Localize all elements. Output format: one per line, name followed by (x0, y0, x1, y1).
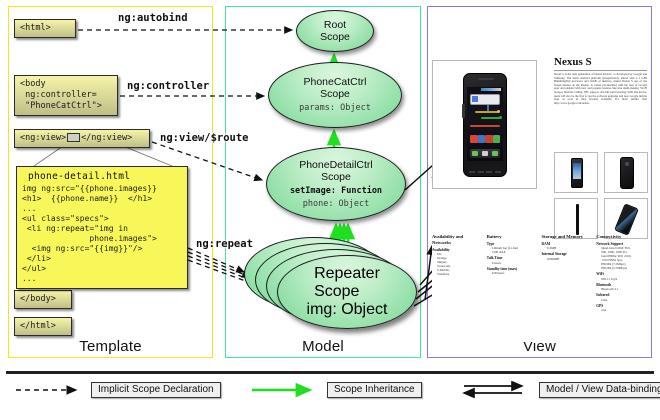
phone-screen (467, 87, 503, 161)
phone-edge-icon (576, 204, 579, 235)
spec-value-1-1-0: 6 hours (492, 261, 538, 265)
legend-green-arrow-icon (250, 381, 322, 398)
label-ng-repeat: ng:repeat (196, 238, 253, 250)
spec-column-battery: Battery Type Lithium Ion (Li-Ion) 1500 m… (487, 234, 538, 312)
scope-phonecatctrl: PhoneCatCtrlScope params: Object (268, 62, 402, 128)
callout-title: phone-detail.html (28, 171, 183, 182)
phone-hero-image-frame (432, 60, 537, 189)
callout-code: img ng:src="{{phone.images}} <h1> {{phon… (22, 184, 183, 284)
thumbnail-phone-back[interactable] (604, 152, 648, 193)
legend-double-arrow-icon (462, 381, 534, 398)
spec-value-2-0-0: 512MB (547, 246, 593, 250)
panel-model-label: Model (226, 338, 420, 355)
phone-angle-icon (614, 203, 639, 236)
code-box-html-open: <html> (14, 19, 76, 38)
scope-repeater-prop-img: img: Object (307, 301, 388, 319)
phone-wallpaper-line-2 (481, 117, 501, 119)
scope-detail-prop-setimage: setImage: Function (290, 186, 382, 197)
spec-value-2-1-0: 16384MB (547, 257, 593, 261)
scope-repeater: RepeaterScope img: Object (277, 255, 417, 329)
phone-app-icon-1 (470, 135, 478, 143)
label-ng-autobind: ng:autobind (118, 12, 188, 24)
label-ng-controller: ng:controller (127, 80, 209, 92)
scope-repeater-name-line1: Repeater (314, 265, 380, 282)
scope-phonedetailctrl: PhoneDetailCtrlScope setImage: Function … (266, 147, 406, 221)
spec-column-availability: Availability and Networks Availability M… (432, 234, 483, 312)
spec-column-storage: Storage and Memory RAM 512MB Internal St… (542, 234, 593, 312)
phone-search-widget (470, 94, 500, 105)
code-box-html-close: </html> (14, 317, 72, 336)
phone-button-back (469, 171, 475, 173)
phone-statusbar (481, 88, 501, 91)
phone-hero-image (463, 73, 507, 177)
product-description: Nexus S is the next generation of Nexus … (554, 73, 647, 105)
legend-item-model-view-data-binding: Model / View Data-binding (462, 381, 660, 398)
spec-value-3-3-0: false (601, 298, 647, 302)
product-title-rule (554, 70, 647, 71)
thumbnail-phone-edge[interactable] (554, 198, 598, 239)
scope-repeater-name-line2: Scope (314, 283, 359, 300)
legend-label-implicit-scope-declaration: Implicit Scope Declaration (91, 382, 221, 398)
phone-app-icons (470, 135, 500, 147)
spec-value-3-0-5: HSUPA (5.76Mbps) (601, 266, 647, 270)
view-rendered-page: Nexus S Nexus S is the next generation o… (432, 12, 647, 342)
spec-value-1-2-0: 428 hours (492, 271, 538, 275)
legend-label-scope-inheritance: Scope Inheritance (327, 382, 422, 398)
spec-value-3-1-0: 802.11 b/g/n (601, 277, 647, 281)
spec-table: Availability and Networks Availability M… (432, 234, 647, 312)
thumbnail-phone-front[interactable] (554, 152, 598, 193)
scope-detail-name-line1: PhoneDetailCtrl (299, 159, 373, 171)
spec-heading-1: Battery (487, 234, 538, 240)
spec-value-3-2-0: Bluetooth 2.1 (601, 287, 647, 291)
scope-cat-name-line1: PhoneCatCtrl (303, 76, 366, 88)
code-box-ngview: <ng:view></ng:view> (14, 129, 150, 148)
spec-heading-0: Availability and Networks (432, 234, 483, 246)
scope-detail-prop-phone: phone: Object (303, 199, 370, 210)
product-title: Nexus S (554, 56, 592, 68)
ngview-close-tag: </ng:view> (81, 133, 132, 143)
phone-dock-icon-phone (472, 151, 478, 156)
legend-dashed-arrow-icon (14, 381, 86, 398)
code-box-body-open: <body ng:controller= "PhoneCatCtrl"> (14, 75, 118, 116)
legend-divider (6, 371, 654, 374)
scope-root-name-line2: Scope (320, 31, 350, 43)
phone-button-menu (478, 171, 484, 173)
phone-wallpaper-line-3 (470, 125, 500, 127)
label-ng-view-route: ng:view/$route (160, 132, 249, 144)
spec-heading-3: Connectivity (596, 234, 647, 240)
template-callout-phone-detail: phone-detail.html img ng:src="{{phone.im… (16, 166, 188, 289)
spec-value-1-0-1: 1500 mAh (492, 250, 538, 254)
phone-front-icon (571, 158, 583, 188)
spec-value-3-4-0: true (601, 308, 647, 312)
panel-template-label: Template (9, 338, 212, 355)
phone-dock-icon-apps (482, 151, 488, 156)
scope-root-name-line1: Root (324, 19, 346, 31)
legend-item-implicit-scope-declaration: Implicit Scope Declaration (14, 381, 221, 398)
phone-volume-button (462, 104, 465, 118)
legend-item-scope-inheritance: Scope Inheritance (250, 381, 422, 398)
ngview-open-tag: <ng:view> (20, 133, 66, 143)
phone-wallpaper-dot-2 (499, 116, 502, 119)
phone-wallpaper-dot-1 (497, 110, 500, 113)
phone-app-icon-2 (478, 135, 486, 143)
phone-app-icon-4 (493, 135, 501, 143)
phone-wallpaper-line-1 (475, 111, 499, 113)
scope-root: RootScope (296, 10, 374, 52)
spec-heading-2: Storage and Memory (542, 234, 593, 240)
spec-value-0-0-5: Vodafone (437, 272, 483, 276)
phone-button-home (486, 171, 492, 173)
phone-hardware-buttons (468, 167, 502, 176)
code-box-body-close: </body> (14, 290, 72, 309)
phone-dock-tray (470, 149, 500, 158)
thumbnail-phone-angle[interactable] (604, 198, 648, 239)
phone-dock-icon-browser (492, 151, 498, 156)
diagram-canvas: Template Model View (0, 0, 660, 420)
phone-speaker-icon (478, 78, 494, 80)
phone-app-icon-3 (485, 135, 493, 143)
ngview-slot-icon (67, 133, 80, 142)
spec-column-connectivity: Connectivity Network Support Quad-band G… (596, 234, 647, 312)
scope-cat-name-line2: Scope (320, 88, 350, 100)
scope-detail-name-line2: Scope (321, 171, 351, 183)
scope-cat-prop-params: params: Object (299, 103, 371, 114)
phone-button-search (495, 171, 501, 173)
phone-back-icon (620, 157, 634, 189)
legend-label-model-view-data-binding: Model / View Data-binding (539, 382, 660, 398)
